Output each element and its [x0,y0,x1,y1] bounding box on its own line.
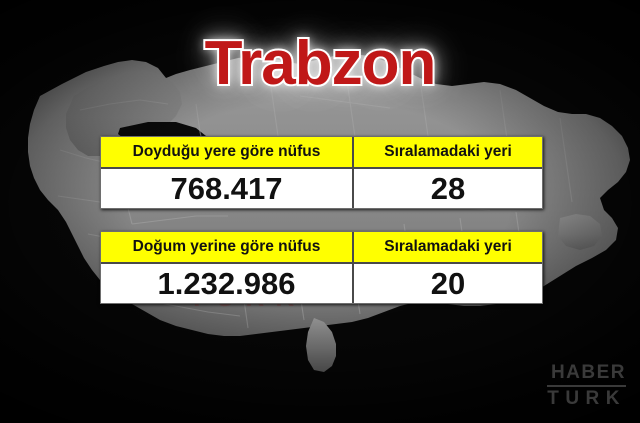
value-rank: 20 [354,264,542,303]
table-header-row: Doğum yerine göre nüfus Sıralamadaki yer… [101,232,542,264]
infographic-canvas: HABER TURK Trabzon Doyduğu yere göre nüf… [0,0,640,423]
value-population: 768.417 [101,169,354,208]
table-value-row: 1.232.986 20 [101,264,542,303]
header-population-label: Doğum yerine göre nüfus [101,232,354,262]
page-title: Trabzon [0,28,640,99]
header-rank-label: Sıralamadaki yeri [354,232,542,262]
population-table-by-residence: Doyduğu yere göre nüfus Sıralamadaki yer… [100,136,543,209]
table-value-row: 768.417 28 [101,169,542,208]
population-table-by-birthplace: Doğum yerine göre nüfus Sıralamadaki yer… [100,231,543,304]
header-rank-label: Sıralamadaki yeri [354,137,542,167]
value-population: 1.232.986 [101,264,354,303]
logo-line-1: HABER [547,363,626,387]
haberturk-logo: HABER TURK [547,363,626,409]
header-population-label: Doyduğu yere göre nüfus [101,137,354,167]
table-header-row: Doyduğu yere göre nüfus Sıralamadaki yer… [101,137,542,169]
logo-line-2: TURK [547,387,626,409]
value-rank: 28 [354,169,542,208]
